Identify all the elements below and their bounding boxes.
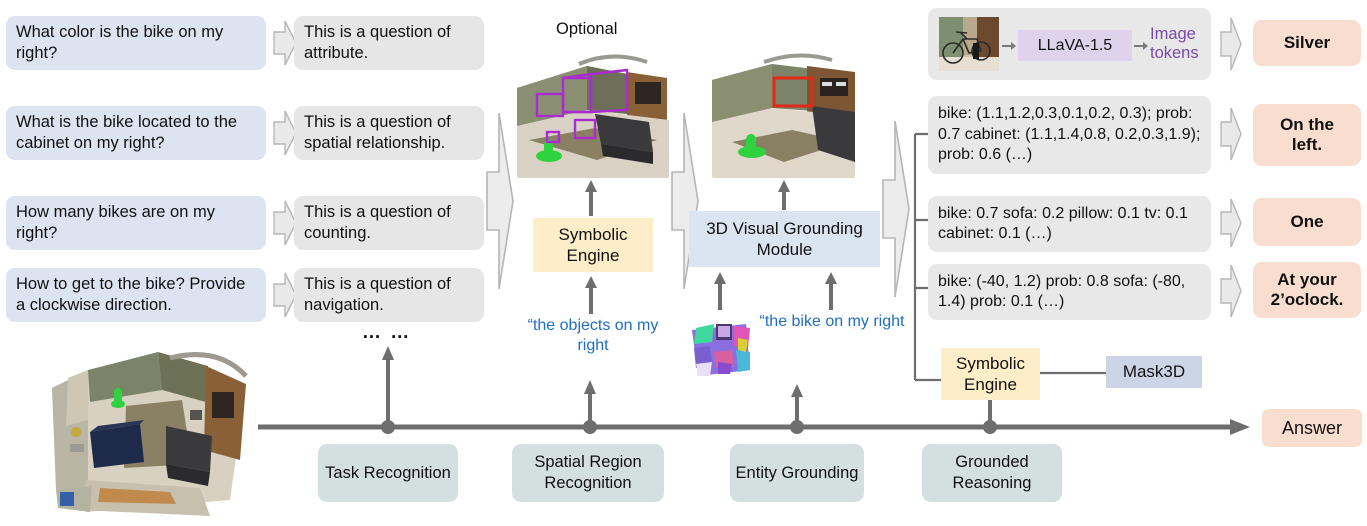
chevron-arrow-icon	[1219, 196, 1243, 250]
connector-symbolic-to-mask3d	[1040, 371, 1106, 375]
timeline-node-task-recognition	[378, 340, 398, 436]
prompt-text: “the objects on my right	[528, 317, 659, 354]
optional-label: Optional	[556, 20, 617, 39]
stage-label: Task Recognition	[325, 463, 451, 484]
question-bubble: How many bikes are on my right?	[6, 196, 266, 250]
answer-endpoint-label: Answer	[1282, 418, 1342, 439]
prompt-text: “the bike on my right	[760, 313, 905, 330]
figure-canvas: What color is the bike on my right? What…	[0, 0, 1367, 526]
llava-pipeline-panel: LLaVA-1.5 Image tokens	[928, 8, 1211, 80]
answer-box: One	[1253, 198, 1361, 246]
prompt-spatial-region: “the objects on my right	[519, 316, 667, 356]
task-type-box: This is a question of spatial relationsh…	[294, 106, 484, 160]
answer-text: One	[1290, 212, 1323, 232]
stage-label: Spatial Region Recognition	[512, 452, 664, 493]
grounded-output-box: bike: (-40, 1.2) prob: 0.8 sofa: (-80, 1…	[928, 264, 1211, 320]
grounded-output-text: bike: (-40, 1.2) prob: 0.8 sofa: (-80, 1…	[938, 272, 1201, 313]
task-type-text: This is a question of attribute.	[304, 22, 474, 64]
answer-text: Silver	[1284, 33, 1330, 53]
arrow-up-icon	[777, 180, 791, 210]
stage-box-spatial-region-recognition: Spatial Region Recognition	[512, 444, 664, 502]
stage-label: Grounded Reasoning	[922, 452, 1062, 493]
visual-grounding-label: 3D Visual Grounding Module	[689, 218, 880, 261]
prompt-entity-grounding: “the bike on my right	[757, 312, 907, 332]
stage-box-entity-grounding: Entity Grounding	[730, 444, 864, 502]
chevron-arrow-tall-icon	[485, 110, 515, 292]
scene-image-full-room	[40, 340, 262, 522]
question-text: How to get to the bike? Provide a clockw…	[16, 274, 256, 316]
task-type-box: This is a question of attribute.	[294, 16, 484, 70]
symbolic-engine-label: Symbolic Engine	[941, 353, 1040, 396]
question-text: What is the bike located to the cabinet …	[16, 112, 256, 154]
question-bubble: How to get to the bike? Provide a clockw…	[6, 268, 266, 322]
symbolic-engine-module-top: Symbolic Engine	[533, 218, 653, 272]
symbolic-engine-label: Symbolic Engine	[533, 224, 653, 267]
visual-grounding-module: 3D Visual Grounding Module	[689, 211, 880, 267]
question-text: What color is the bike on my right?	[16, 22, 256, 64]
arrow-up-icon	[824, 272, 838, 310]
task-type-text: This is a question of navigation.	[304, 274, 474, 316]
question-text: How many bikes are on my right?	[16, 202, 256, 244]
image-tokens-label: Image tokens	[1150, 25, 1206, 63]
mask3d-label: Mask3D	[1123, 361, 1185, 382]
arrow-right-icon	[1134, 41, 1148, 51]
answer-endpoint-box: Answer	[1262, 409, 1362, 447]
answer-text: On the left.	[1263, 115, 1351, 156]
chevron-arrow-icon	[1219, 14, 1243, 74]
arrow-right-icon	[1002, 41, 1016, 51]
llava-model-chip: LLaVA-1.5	[1018, 30, 1132, 61]
task-type-box: This is a question of counting.	[294, 196, 484, 250]
point-cloud-segmentation-thumbnail	[688, 318, 754, 380]
llava-label: LLaVA-1.5	[1038, 37, 1112, 55]
task-type-box: This is a question of navigation.	[294, 268, 484, 322]
scene-image-entity-grounding	[712, 50, 855, 178]
symbolic-engine-module-bottom: Symbolic Engine	[941, 348, 1040, 400]
stage-label: Entity Grounding	[736, 463, 859, 484]
task-type-text: This is a question of spatial relationsh…	[304, 112, 474, 154]
grounded-output-text: bike: 0.7 sofa: 0.2 pillow: 0.1 tv: 0.1 …	[938, 204, 1201, 245]
arrow-up-icon	[713, 272, 727, 310]
answer-box: Silver	[1253, 20, 1361, 66]
stage-box-task-recognition: Task Recognition	[318, 444, 458, 502]
question-bubble: What is the bike located to the cabinet …	[6, 106, 266, 160]
task-type-text: This is a question of counting.	[304, 202, 474, 244]
bike-photo	[939, 17, 999, 71]
timeline-node-entity-grounding	[787, 382, 807, 436]
chevron-arrow-icon	[1219, 262, 1243, 320]
answer-box: At your 2’oclock.	[1253, 262, 1361, 318]
chevron-arrow-icon	[1219, 104, 1243, 164]
scene-image-spatial-region	[517, 48, 669, 178]
grounded-output-box: bike: 0.7 sofa: 0.2 pillow: 0.1 tv: 0.1 …	[928, 196, 1211, 252]
answer-text: At your 2’oclock.	[1263, 270, 1351, 311]
arrow-up-icon	[584, 180, 598, 216]
stage-box-grounded-reasoning: Grounded Reasoning	[922, 444, 1062, 502]
answer-box: On the left.	[1253, 104, 1361, 166]
grounded-output-text: bike: (1.1,1.2,0.3,0.1,0.2, 0.3); prob: …	[938, 104, 1201, 165]
arrow-up-icon	[584, 276, 598, 314]
grounded-output-box: bike: (1.1,1.2,0.3,0.1,0.2, 0.3); prob: …	[928, 96, 1211, 174]
pipeline-timeline-axis	[258, 418, 1258, 436]
timeline-node-spatial-region	[580, 378, 600, 436]
mask3d-module: Mask3D	[1106, 356, 1202, 388]
question-bubble: What color is the bike on my right?	[6, 16, 266, 70]
